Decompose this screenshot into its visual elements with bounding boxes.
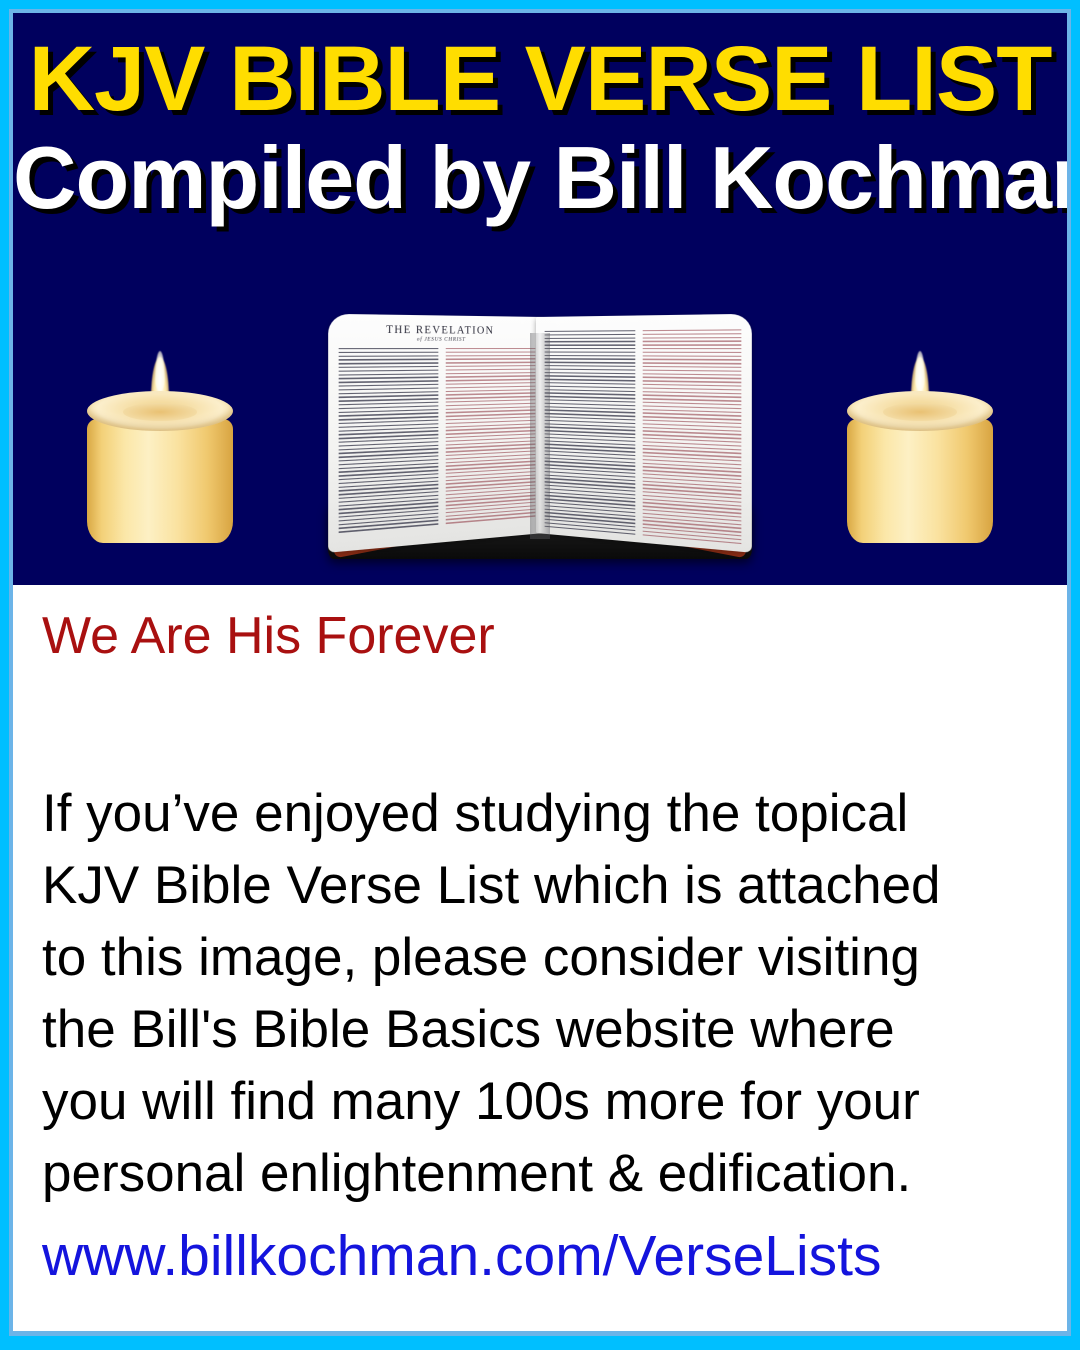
website-url-link[interactable]: www.billkochman.com/VerseLists <box>42 1228 881 1285</box>
candle-flame-core-icon <box>915 351 925 391</box>
candle-flame-core-icon <box>155 351 165 391</box>
bible-text-columns-left <box>328 348 544 536</box>
candle-right-icon <box>847 391 993 543</box>
paragraph-line: If you’ve enjoyed studying the topical <box>42 778 1042 850</box>
paragraph-line: the Bill's Bible Basics website where <box>42 994 1042 1066</box>
bible-page-right <box>536 314 752 553</box>
promo-paragraph: If you’ve enjoyed studying the topical K… <box>42 778 1042 1210</box>
poster-body: We Are His Forever If you’ve enjoyed stu… <box>13 592 1067 1337</box>
bible-page-left: THE REVELATION of JESUS CHRIST <box>328 314 544 553</box>
paragraph-line: KJV Bible Verse List which is attached <box>42 850 1042 922</box>
bible-page-subheading: of JESUS CHRIST <box>328 337 544 343</box>
candle-body <box>847 419 993 543</box>
paragraph-line: you will find many 100s more for your <box>42 1066 1042 1138</box>
poster-header: KJV BIBLE VERSE LIST Compiled by Bill Ko… <box>13 13 1067 585</box>
title-block: KJV BIBLE VERSE LIST Compiled by Bill Ko… <box>13 33 1067 223</box>
bible-text-column <box>545 330 635 536</box>
candle-left-icon <box>87 391 233 543</box>
candle-wax-well <box>123 403 197 421</box>
paragraph-line: to this image, please consider visiting <box>42 922 1042 994</box>
bible-text-column <box>339 348 438 535</box>
bible-text-column <box>642 329 741 545</box>
page-title: KJV BIBLE VERSE LIST <box>13 33 1067 127</box>
candle-wax-well <box>883 403 957 421</box>
bible-page-heading: THE REVELATION <box>328 324 544 337</box>
bible-spine-gutter <box>530 333 550 539</box>
paragraph-line: personal enlightenment & edification. <box>42 1138 1042 1210</box>
page-subtitle: Compiled by Bill Kochman <box>13 133 1067 223</box>
verse-list-title: We Are His Forever <box>42 610 495 662</box>
candle-body <box>87 419 233 543</box>
artwork-row: THE REVELATION of JESUS CHRIST <box>13 275 1067 575</box>
kjv-verse-list-poster: KJV BIBLE VERSE LIST Compiled by Bill Ko… <box>0 0 1080 1350</box>
bible-text-column <box>445 348 535 526</box>
bible-text-columns-right <box>536 314 752 546</box>
open-bible-image: THE REVELATION of JESUS CHRIST <box>322 303 758 561</box>
